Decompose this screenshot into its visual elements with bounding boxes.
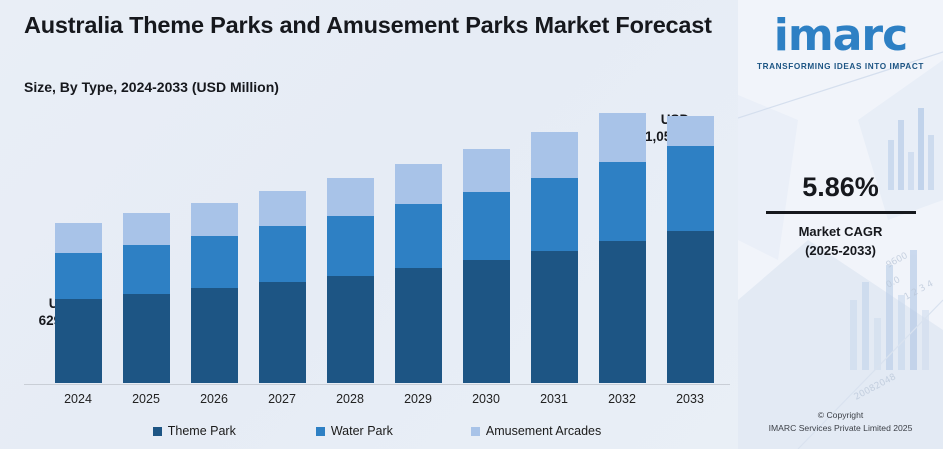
x-axis-tick-label: 2033: [660, 392, 720, 406]
legend-swatch-theme-park: [153, 427, 162, 436]
bar-segment-water-park: [667, 146, 714, 231]
bar-segment-amusement-arcades: [463, 149, 510, 192]
bar-segment-amusement-arcades: [259, 191, 306, 227]
bar-segment-amusement-arcades: [327, 178, 374, 216]
x-axis-tick-label: 2027: [252, 392, 312, 406]
brand-tagline: TRANSFORMING IDEAS INTO IMPACT: [738, 62, 943, 71]
x-axis-tick-label: 2025: [116, 392, 176, 406]
legend-item-amusement-arcades: Amusement Arcades: [471, 424, 601, 438]
legend-label-water-park: Water Park: [331, 424, 393, 438]
legend-label-amusement-arcades: Amusement Arcades: [486, 424, 601, 438]
x-axis-tick-label: 2029: [388, 392, 448, 406]
legend: Theme Park Water Park Amusement Arcades: [24, 421, 730, 441]
bar-column: [259, 191, 306, 383]
bar-column: [123, 213, 170, 383]
bar-segment-water-park: [327, 216, 374, 276]
cagr-value: 5.86%: [738, 172, 943, 203]
x-axis-tick-label: 2031: [524, 392, 584, 406]
bar-column: [55, 223, 102, 383]
page-title: Australia Theme Parks and Amusement Park…: [24, 10, 714, 40]
copyright-line-2: IMARC Services Private Limited 2025: [738, 422, 943, 435]
bar-segment-water-park: [531, 178, 578, 252]
x-axis-tick-label: 2030: [456, 392, 516, 406]
bar-segment-theme-park: [531, 251, 578, 383]
x-axis-labels: 2024202520262027202820292030203120322033: [24, 392, 730, 408]
chart-panel: Australia Theme Parks and Amusement Park…: [0, 0, 738, 449]
legend-item-water-park: Water Park: [316, 424, 393, 438]
legend-swatch-amusement-arcades: [471, 427, 480, 436]
bar-column: [191, 203, 238, 383]
copyright-block: © Copyright IMARC Services Private Limit…: [738, 409, 943, 435]
bar-segment-water-park: [599, 162, 646, 241]
chart-page: Australia Theme Parks and Amusement Park…: [0, 0, 943, 449]
x-axis-tick-label: 2024: [48, 392, 108, 406]
x-axis-line: [24, 384, 730, 385]
bar-segment-water-park: [191, 236, 238, 288]
bar-segment-amusement-arcades: [55, 223, 102, 253]
bar-segment-water-park: [55, 253, 102, 299]
bar-segment-water-park: [259, 226, 306, 282]
bar-segment-amusement-arcades: [667, 116, 714, 146]
bar-segment-amusement-arcades: [531, 132, 578, 178]
bar-segment-theme-park: [55, 299, 102, 383]
x-axis-tick-label: 2026: [184, 392, 244, 406]
cagr-years: (2025-2033): [738, 243, 943, 258]
x-axis-tick-label: 2028: [320, 392, 380, 406]
bar-segment-theme-park: [463, 260, 510, 383]
bar-segment-amusement-arcades: [191, 203, 238, 237]
bar-segment-theme-park: [327, 276, 374, 383]
bar-segment-water-park: [395, 204, 442, 268]
bar-column: [531, 132, 578, 383]
bar-segment-theme-park: [259, 282, 306, 383]
plot-area: [24, 104, 730, 385]
cagr-block: 5.86% Market CAGR (2025-2033): [738, 172, 943, 258]
brand-logo: imarc TRANSFORMING IDEAS INTO IMPACT: [738, 14, 943, 71]
x-axis-tick-label: 2032: [592, 392, 652, 406]
bar-column: [327, 178, 374, 383]
bar-segment-amusement-arcades: [599, 113, 646, 162]
legend-label-theme-park: Theme Park: [168, 424, 236, 438]
bar-segment-theme-park: [123, 294, 170, 383]
bar-column: [599, 113, 646, 383]
legend-swatch-water-park: [316, 427, 325, 436]
cagr-divider: [766, 211, 916, 214]
brand-name: imarc: [738, 14, 943, 58]
bar-segment-theme-park: [395, 268, 442, 383]
bar-segment-water-park: [463, 192, 510, 260]
bar-segment-amusement-arcades: [123, 213, 170, 245]
bar-segment-theme-park: [599, 241, 646, 383]
page-subtitle: Size, By Type, 2024-2033 (USD Million): [24, 79, 279, 95]
bar-segment-theme-park: [667, 231, 714, 383]
bar-column: [667, 116, 714, 383]
brand-panel: 20082048 9600 0.0 1 2 3 4 imarc TRANSFOR…: [738, 0, 943, 449]
bar-segment-water-park: [123, 245, 170, 294]
copyright-line-1: © Copyright: [738, 409, 943, 422]
bar-segment-amusement-arcades: [395, 164, 442, 204]
bar-group: [24, 104, 730, 384]
bar-segment-theme-park: [191, 288, 238, 383]
legend-item-theme-park: Theme Park: [153, 424, 236, 438]
bar-column: [395, 164, 442, 383]
bar-column: [463, 149, 510, 383]
cagr-label: Market CAGR: [738, 224, 943, 239]
